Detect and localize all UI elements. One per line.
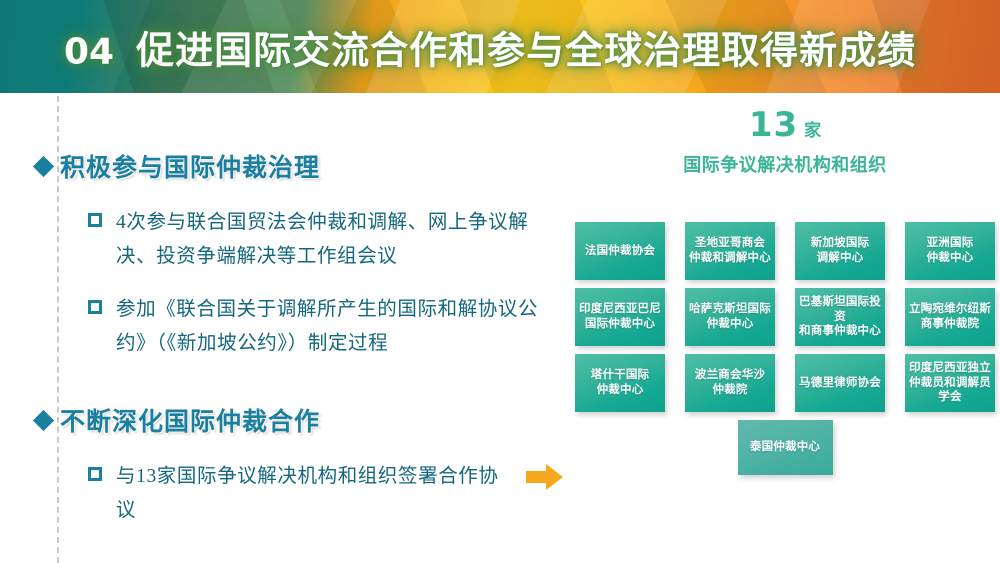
section-heading-1-label: 积极参与国际仲裁治理	[60, 148, 320, 184]
section-heading-2: 不断深化国际仲裁合作	[36, 402, 576, 438]
organization-box[interactable]: 印度尼西亚巴尼国际仲裁中心	[575, 288, 665, 346]
organization-row: 塔什干国际仲裁中心 波兰商会华沙仲裁院 马德里律师协会 印度尼西亚独立仲裁员和调…	[575, 354, 995, 412]
left-content-column: 积极参与国际仲裁治理 4次参与联合国贸法会仲裁和调解、网上争议解决、投资争端解决…	[36, 100, 576, 555]
organization-box[interactable]: 法国仲裁协会	[575, 222, 665, 280]
right-content-column: 13家 国际争议解决机构和组织 法国仲裁协会 圣地亚哥商会仲裁和调解中心 新加坡…	[570, 108, 1000, 508]
diamond-icon	[33, 410, 54, 431]
organization-box[interactable]: 泰国仲裁中心	[738, 420, 833, 475]
organization-box[interactable]: 哈萨克斯坦国际仲裁中心	[685, 288, 775, 346]
organization-row: 法国仲裁协会 圣地亚哥商会仲裁和调解中心 新加坡国际调解中心 亚洲国际仲裁中心	[575, 222, 995, 280]
organization-box[interactable]: 亚洲国际仲裁中心	[905, 222, 995, 280]
organization-box[interactable]: 立陶宛维尔纽斯商事仲裁院	[905, 288, 995, 346]
org-count: 13家	[570, 108, 1000, 142]
organization-box[interactable]: 马德里律师协会	[795, 354, 885, 412]
section-heading-2-label: 不断深化国际仲裁合作	[60, 402, 320, 438]
organization-row: 泰国仲裁中心	[575, 420, 995, 475]
list-item: 4次参与联合国贸法会仲裁和调解、网上争议解决、投资争端解决等工作组会议	[88, 206, 576, 273]
organization-box[interactable]: 塔什干国际仲裁中心	[575, 354, 665, 412]
organization-box[interactable]: 巴基斯坦国际投资和商事仲裁中心	[795, 288, 885, 346]
diamond-icon	[33, 155, 54, 176]
section-title-text: 促进国际交流合作和参与全球治理取得新成绩	[136, 19, 916, 74]
list-item-text: 4次参与联合国贸法会仲裁和调解、网上争议解决、投资争端解决等工作组会议	[116, 206, 568, 273]
org-count-unit: 家	[804, 121, 821, 140]
section-number: 04	[64, 31, 114, 72]
list-item: 与13家国际争议解决机构和组织签署合作协议	[88, 460, 576, 527]
square-bullet-icon	[88, 213, 102, 227]
organization-box[interactable]: 波兰商会华沙仲裁院	[685, 354, 775, 412]
square-bullet-icon	[88, 300, 102, 314]
header-banner: 04 促进国际交流合作和参与全球治理取得新成绩	[0, 0, 1000, 93]
organization-box[interactable]: 圣地亚哥商会仲裁和调解中心	[685, 222, 775, 280]
org-count-subtitle: 国际争议解决机构和组织	[570, 151, 1000, 177]
page-title: 04 促进国际交流合作和参与全球治理取得新成绩	[64, 19, 916, 74]
arrow-right-icon	[526, 464, 564, 490]
organization-grid: 法国仲裁协会 圣地亚哥商会仲裁和调解中心 新加坡国际调解中心 亚洲国际仲裁中心 …	[575, 222, 995, 483]
organization-box[interactable]: 印度尼西亚独立仲裁员和调解员学会	[905, 354, 995, 412]
list-item: 参加《联合国关于调解所产生的国际和解协议公约》（《新加坡公约》）制定过程	[88, 293, 576, 360]
slide-root: 04 促进国际交流合作和参与全球治理取得新成绩 积极参与国际仲裁治理 4次参与联…	[0, 0, 1000, 563]
organization-row: 印度尼西亚巴尼国际仲裁中心 哈萨克斯坦国际仲裁中心 巴基斯坦国际投资和商事仲裁中…	[575, 288, 995, 346]
section-heading-1: 积极参与国际仲裁治理	[36, 148, 576, 184]
list-item-text: 参加《联合国关于调解所产生的国际和解协议公约》（《新加坡公约》）制定过程	[116, 293, 568, 360]
organization-box[interactable]: 新加坡国际调解中心	[795, 222, 885, 280]
list-item-text: 与13家国际争议解决机构和组织签署合作协议	[116, 460, 516, 527]
org-count-number: 13	[749, 105, 798, 145]
square-bullet-icon	[88, 467, 102, 481]
